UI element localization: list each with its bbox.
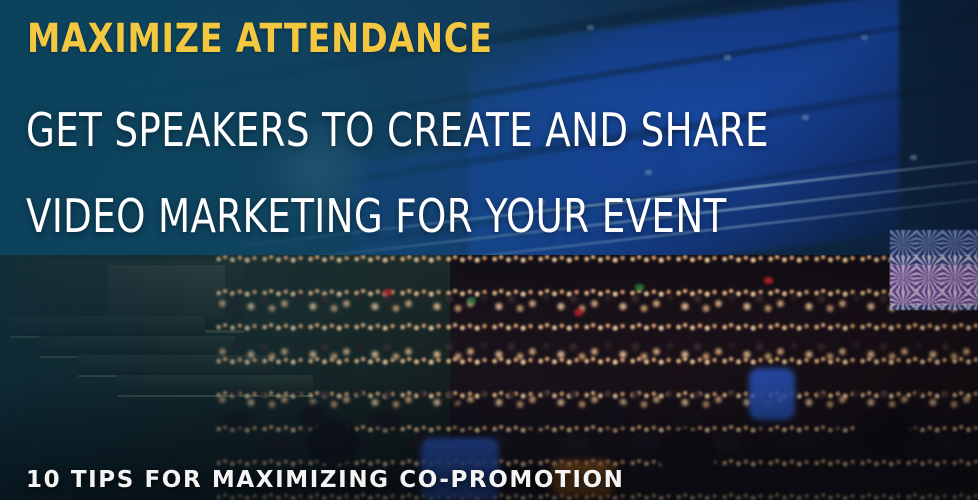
caption-text: 10 TIPS FOR MAXIMIZING CO-PROMOTION [26,469,624,492]
headline-line-1: GET SPEAKERS TO CREATE AND SHARE [26,107,769,153]
headline-line-2: VIDEO MARKETING FOR YOUR EVENT [26,193,727,239]
eyebrow-text: MAXIMIZE ATTENDANCE [27,19,493,59]
banner-content: MAXIMIZE ATTENDANCE GET SPEAKERS TO CREA… [0,0,978,500]
hero-banner: MAXIMIZE ATTENDANCE GET SPEAKERS TO CREA… [0,0,978,500]
